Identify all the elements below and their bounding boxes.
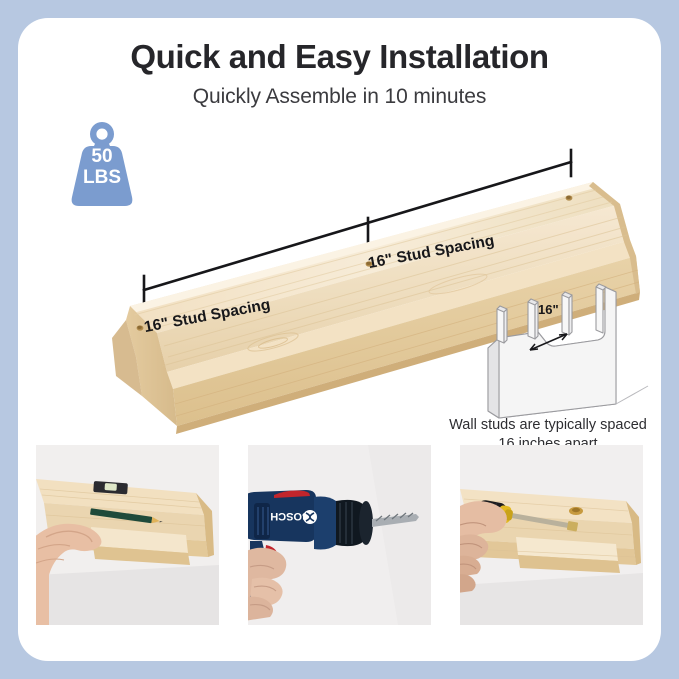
page-title: Quick and Easy Installation bbox=[18, 38, 661, 76]
pencil-mark-photo bbox=[36, 445, 219, 625]
step-photo-3 bbox=[460, 445, 643, 625]
installation-steps-strip: BOSCH bbox=[36, 445, 643, 625]
screw-hole bbox=[137, 325, 144, 330]
drill-photo: BOSCH bbox=[248, 445, 431, 625]
wall-stud-diagram: 16" bbox=[466, 276, 656, 421]
page-subtitle: Quickly Assemble in 10 minutes bbox=[18, 85, 661, 109]
wall-studs-icon bbox=[466, 276, 656, 421]
infographic-card: Quick and Easy Installation Quickly Asse… bbox=[18, 18, 661, 661]
step-photo-2: BOSCH bbox=[248, 445, 431, 625]
step-photo-1 bbox=[36, 445, 219, 625]
stud-dimension-label: 16" bbox=[538, 302, 559, 317]
screwdriver-photo bbox=[460, 445, 643, 625]
screw-hole bbox=[566, 195, 573, 200]
